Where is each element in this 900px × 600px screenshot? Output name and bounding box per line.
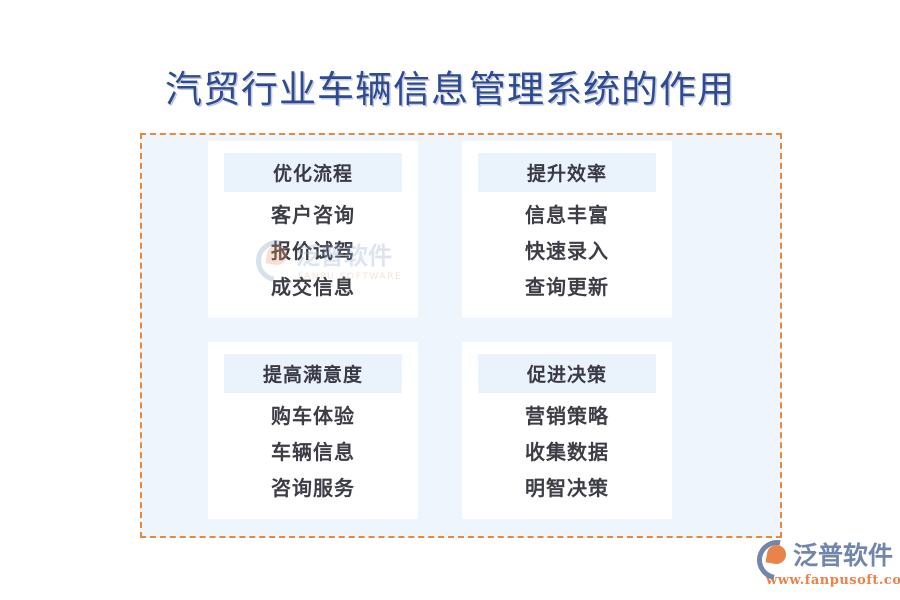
- card-item: 明智决策: [525, 474, 609, 503]
- card-item: 信息丰富: [525, 201, 609, 230]
- card-item: 咨询服务: [271, 474, 355, 503]
- poster-canvas: 汽贸行业车辆信息管理系统的作用 优化流程 客户咨询 报价试驾 成交信息 提升效率…: [0, 0, 900, 600]
- info-card-improve-efficiency[interactable]: 提升效率 信息丰富 快速录入 查询更新: [462, 141, 672, 318]
- info-card-optimize-process[interactable]: 优化流程 客户咨询 报价试驾 成交信息: [208, 141, 418, 318]
- card-item: 报价试驾: [271, 237, 355, 266]
- card-item: 购车体验: [271, 402, 355, 431]
- fanpu-logo-icon: [757, 539, 790, 572]
- card-item: 查询更新: [525, 273, 609, 302]
- card-grid: 优化流程 客户咨询 报价试驾 成交信息 提升效率 信息丰富 快速录入 查询更新 …: [208, 141, 716, 519]
- card-item-list: 营销策略 收集数据 明智决策: [525, 402, 609, 503]
- card-header-label: 提高满意度: [224, 354, 402, 393]
- info-card-raise-satisfaction[interactable]: 提高满意度 购车体验 车辆信息 咨询服务: [208, 342, 418, 519]
- card-item: 营销策略: [525, 402, 609, 431]
- brand-logo[interactable]: 泛普软件 www.fanpusoft.com: [757, 539, 897, 594]
- card-item: 车辆信息: [271, 438, 355, 467]
- info-card-promote-decision[interactable]: 促进决策 营销策略 收集数据 明智决策: [462, 342, 672, 519]
- brand-name: 泛普软件: [793, 541, 893, 571]
- card-item: 客户咨询: [271, 201, 355, 230]
- card-header-label: 提升效率: [478, 153, 656, 192]
- card-item-list: 客户咨询 报价试驾 成交信息: [271, 201, 355, 302]
- brand-logo-row: 泛普软件: [757, 539, 897, 572]
- card-item: 收集数据: [525, 438, 609, 467]
- card-header-label: 促进决策: [478, 354, 656, 393]
- card-header-label: 优化流程: [224, 153, 402, 192]
- card-item-list: 信息丰富 快速录入 查询更新: [525, 201, 609, 302]
- page-title: 汽贸行业车辆信息管理系统的作用: [0, 66, 900, 114]
- card-item: 快速录入: [525, 237, 609, 266]
- card-item-list: 购车体验 车辆信息 咨询服务: [271, 402, 355, 503]
- card-item: 成交信息: [271, 273, 355, 302]
